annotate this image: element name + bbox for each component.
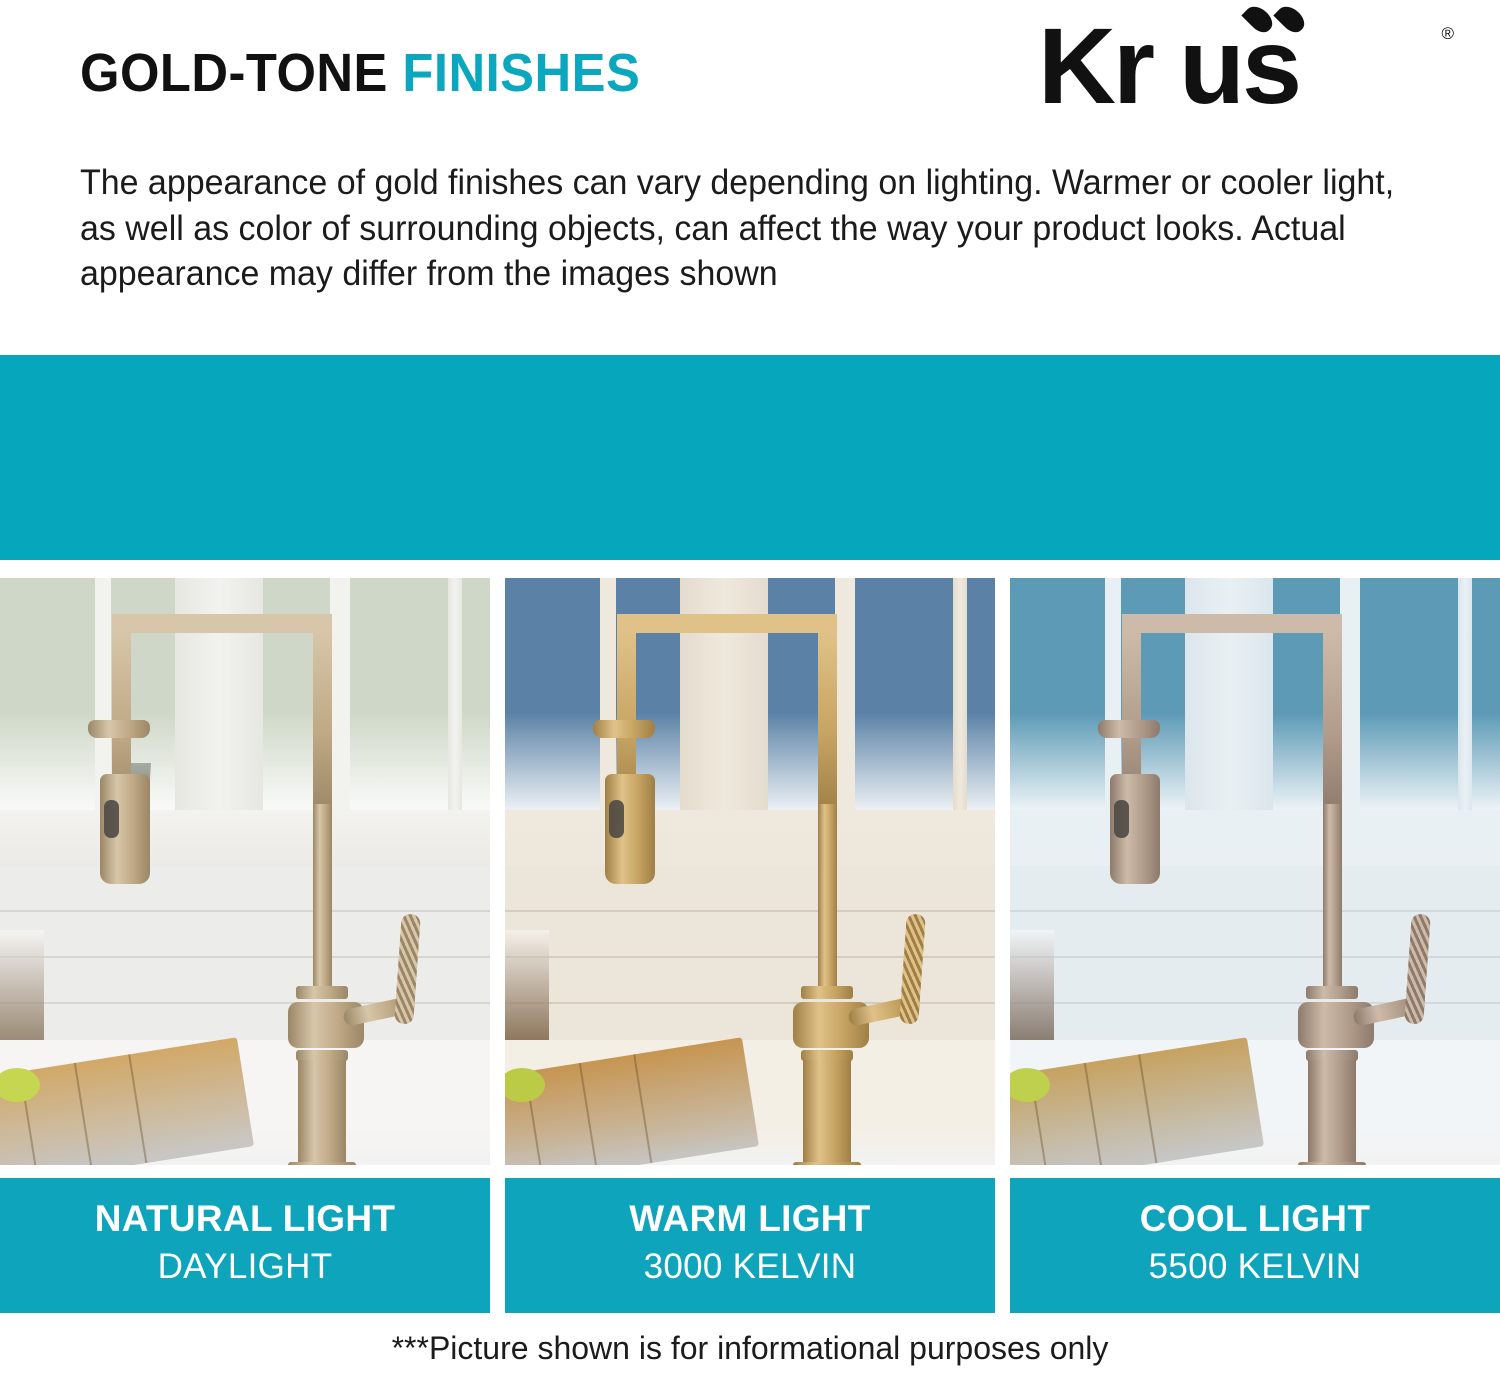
faucet-spray-head xyxy=(605,774,655,884)
label-plate-warm-light: WARM LIGHT 3000 KELVIN xyxy=(505,1178,995,1313)
faucet-knurled-handle xyxy=(899,913,926,1024)
faucet-spray-head-lip xyxy=(593,720,655,738)
faucet-base-plate xyxy=(288,1162,356,1165)
registered-trademark-symbol: ® xyxy=(1441,24,1454,44)
panel-cool-light: COOL LIGHT 5500 KELVIN xyxy=(1010,578,1500,1300)
faucet-base-plate xyxy=(1298,1162,1366,1165)
dish-rack xyxy=(1010,930,1054,1040)
faucet-spray-mode-button xyxy=(609,800,624,838)
kitchen-faucet xyxy=(597,614,927,1134)
faucet-riser-column xyxy=(1323,804,1342,994)
faucet-base-column xyxy=(1308,1060,1356,1165)
label-secondary: 5500 KELVIN xyxy=(1010,1247,1500,1287)
faucet-riser-column xyxy=(818,804,837,994)
label-secondary: 3000 KELVIN xyxy=(505,1247,995,1287)
faucet-spray-head xyxy=(1110,774,1160,884)
faucet-upper-collar xyxy=(1306,986,1358,999)
faucet-upper-collar xyxy=(296,986,348,999)
notice-banner: This applies to all products including S… xyxy=(0,355,1500,560)
faucet-photo-natural-light xyxy=(0,578,490,1165)
cutting-board-grain xyxy=(579,1063,598,1165)
label-secondary: DAYLIGHT xyxy=(0,1247,490,1287)
label-primary: NATURAL LIGHT xyxy=(0,1198,490,1240)
page-title-primary: GOLD-TONE xyxy=(80,43,402,103)
window-mullion-far-right xyxy=(448,578,462,823)
cutting-board-grain xyxy=(74,1063,93,1165)
intro-paragraph: The appearance of gold finishes can vary… xyxy=(80,160,1409,297)
window-mullion-far-right xyxy=(1458,578,1472,823)
page-title-accent: FINISHES xyxy=(402,43,640,103)
faucet-spray-mode-button xyxy=(1114,800,1129,838)
faucet-base-column xyxy=(803,1060,851,1165)
faucet-photo-cool-light xyxy=(1010,578,1500,1165)
footer-note: ***Picture shown is for informational pu… xyxy=(0,1330,1500,1367)
cutting-board-grain xyxy=(1084,1063,1103,1165)
kraus-logo: Kr us ® xyxy=(1038,6,1438,114)
faucet-photo-warm-light xyxy=(505,578,995,1165)
label-plate-natural-light: NATURAL LIGHT DAYLIGHT xyxy=(0,1178,490,1313)
label-primary: COOL LIGHT xyxy=(1010,1198,1500,1240)
faucet-knurled-handle xyxy=(1404,913,1431,1024)
faucet-base-plate xyxy=(793,1162,861,1165)
label-plate-cool-light: COOL LIGHT 5500 KELVIN xyxy=(1010,1178,1500,1313)
faucet-spray-mode-button xyxy=(104,800,119,838)
panel-natural-light: NATURAL LIGHT DAYLIGHT xyxy=(0,578,490,1300)
dish-rack xyxy=(505,930,549,1040)
faucet-knurled-handle xyxy=(394,913,421,1024)
panel-warm-light: WARM LIGHT 3000 KELVIN xyxy=(505,578,995,1300)
kitchen-faucet xyxy=(92,614,422,1134)
faucet-spray-head-lip xyxy=(88,720,150,738)
kitchen-faucet xyxy=(1102,614,1432,1134)
window-mullion-far-right xyxy=(953,578,967,823)
faucet-spray-head xyxy=(100,774,150,884)
dish-rack xyxy=(0,930,44,1040)
faucet-base-column xyxy=(298,1060,346,1165)
faucet-upper-collar xyxy=(801,986,853,999)
faucet-spray-head-lip xyxy=(1098,720,1160,738)
page-title: GOLD-TONE FINISHES xyxy=(80,42,640,104)
faucet-riser-column xyxy=(313,804,332,994)
page-header: Kr us ® GOLD-TONE FINISHES The appearanc… xyxy=(0,0,1500,355)
label-primary: WARM LIGHT xyxy=(505,1198,995,1240)
lighting-comparison-grid: NATURAL LIGHT DAYLIGHT xyxy=(0,578,1500,1300)
